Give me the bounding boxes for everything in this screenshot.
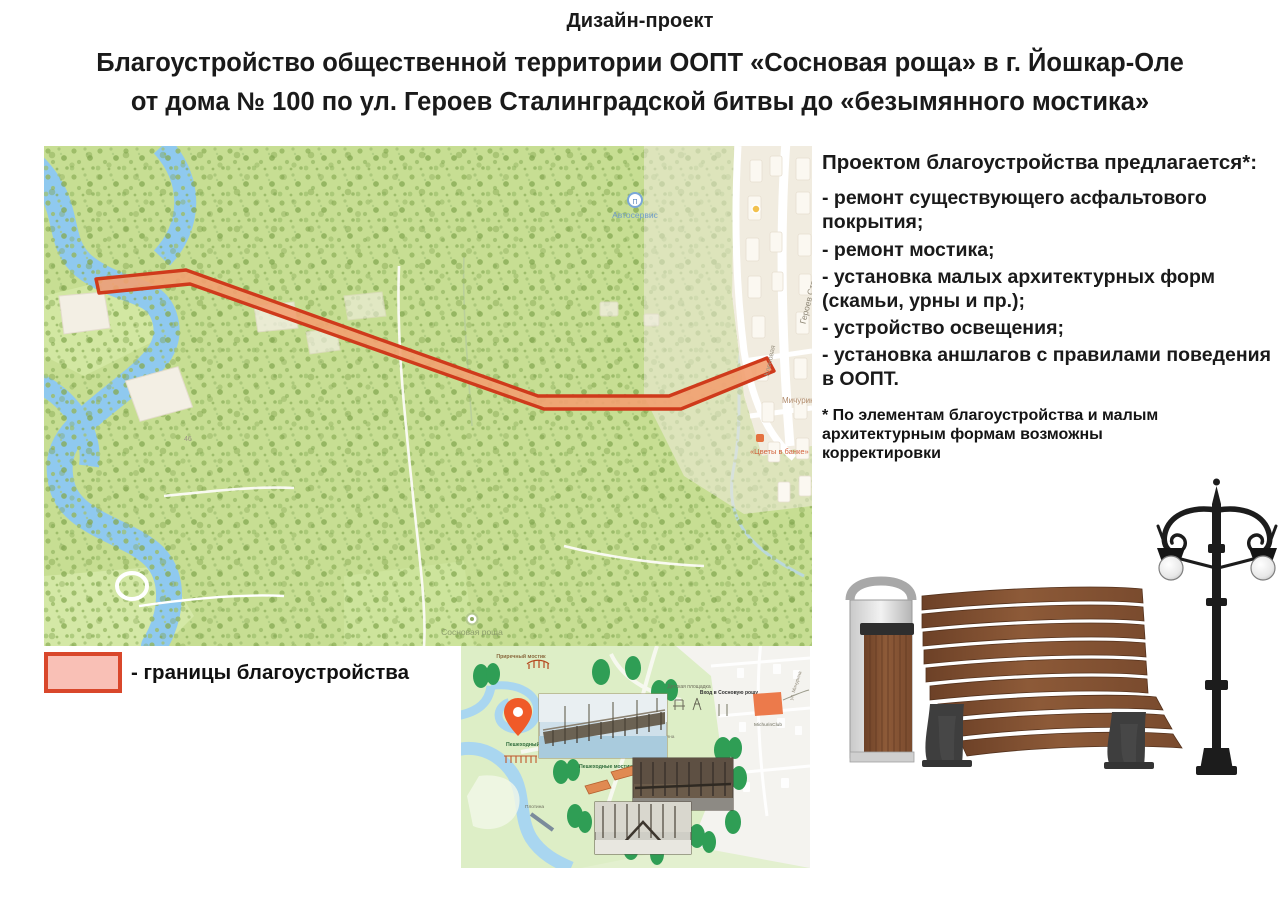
map-poi-marker [752, 205, 760, 213]
subtitle-line-2: от дома № 100 по ул. Героев Сталинградск… [0, 88, 1280, 117]
inset-photo-bridge-2024[interactable] [539, 694, 667, 758]
inset-photo-bridge-b[interactable] [595, 802, 691, 854]
map-poi-michurina[interactable]: Мичурина [782, 396, 812, 405]
design-project-poster: Дизайн-проект Благоустройство общественн… [0, 0, 1280, 906]
inset-park-map[interactable]: Пешеходный мостик 2024 Приречный мостик … [461, 646, 810, 868]
subtitle-line-1: Благоустройство общественной территории … [0, 49, 1280, 78]
map-label-flower-shop: «Цветы в банке» [750, 447, 809, 456]
map-label-house-number: 46 [184, 436, 192, 443]
legend-label-boundary: - границы благоустройства [131, 661, 409, 685]
svg-text:П: П [632, 199, 637, 206]
main-map[interactable]: 46 П Автосервис Героев Сталинградской [44, 146, 812, 646]
inset-label-entrance: Вход в Сосновую рощу [700, 690, 758, 696]
proposal-panel: Проектом благоустройства предлагается*: … [822, 150, 1272, 463]
legend-swatch-boundary [44, 652, 122, 693]
furniture-illustration [812, 448, 1280, 788]
proposal-item: - установка малых архитектурных форм (ск… [822, 265, 1272, 313]
proposal-item: - ремонт мостика; [822, 238, 1272, 262]
inset-label-dam: Плотина [525, 804, 544, 810]
proposal-item: - установка аншлагов с правилами поведен… [822, 343, 1272, 391]
map-label-autoservice: Автосервис [612, 210, 658, 220]
proposal-item: - устройство освещения; [822, 316, 1272, 340]
map-label-michurina: Мичурина [782, 396, 812, 405]
urn-illustration [850, 581, 914, 762]
map-legend: - границы благоустройства [44, 652, 409, 693]
street-lamp-illustration [1157, 479, 1277, 776]
proposal-title: Проектом благоустройства предлагается*: [822, 150, 1272, 175]
bench-illustration [922, 587, 1182, 769]
proposal-item: - ремонт существующего асфальтового покр… [822, 186, 1272, 234]
map-label-park-name: Сосновая роща [441, 627, 503, 637]
inset-label-bridge-river: Приречный мостик [496, 653, 546, 660]
inset-label-club: MichurinClub [754, 722, 782, 728]
poster-header: Дизайн-проект Благоустройство общественн… [0, 0, 1280, 117]
page-title: Дизайн-проект [0, 10, 1280, 33]
proposal-list: - ремонт существующего асфальтового покр… [822, 186, 1272, 391]
